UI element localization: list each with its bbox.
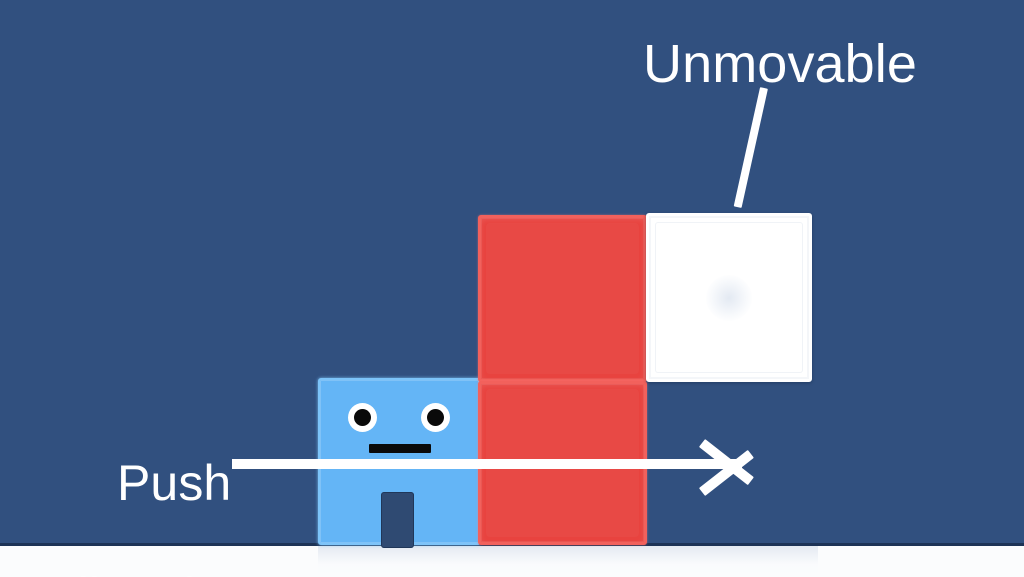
white-block-center-mark <box>706 275 752 321</box>
character-mouth <box>369 444 431 453</box>
push-direction-label-line2: direction <box>61 570 251 577</box>
push-arrow-shaft-icon <box>232 459 742 469</box>
character-left-eye <box>348 403 377 432</box>
unmovable-label: Unmovable <box>643 36 917 93</box>
red-block-upper-face <box>486 223 639 374</box>
character-right-pupil <box>427 409 444 426</box>
unmovable-white-block[interactable] <box>646 213 812 382</box>
push-arrow-head-icon <box>700 424 770 504</box>
push-direction-label: Push direction <box>61 404 251 577</box>
character-right-eye <box>421 403 450 432</box>
push-direction-label-line1: Push <box>117 455 231 511</box>
red-block-upper[interactable] <box>478 215 647 382</box>
character-left-pupil <box>354 409 371 426</box>
character-base-notch <box>381 492 414 548</box>
ground-shadow <box>318 546 818 577</box>
scene-canvas: Unmovable Push direction <box>0 0 1024 577</box>
white-block-face <box>655 222 803 373</box>
